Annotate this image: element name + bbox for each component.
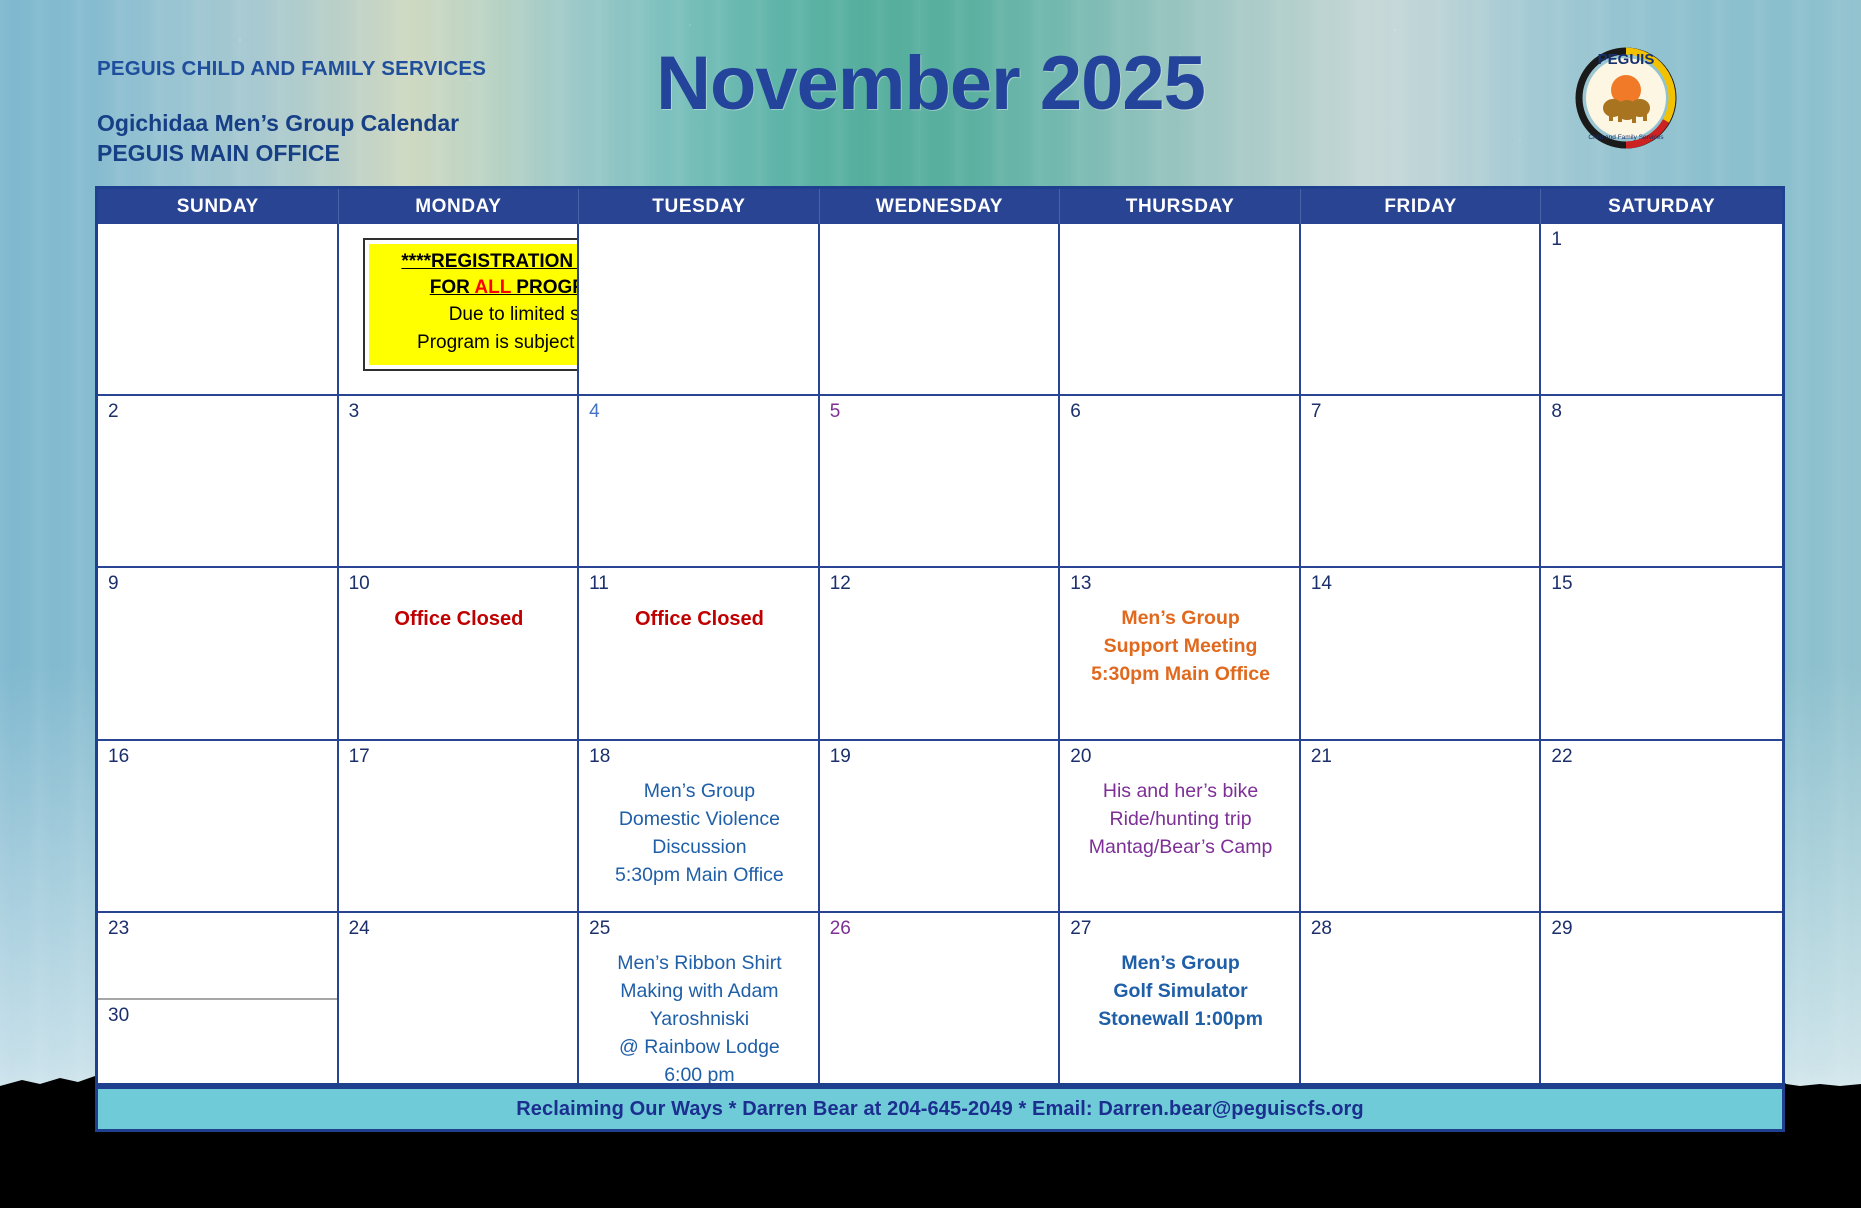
registration-notice-inner: ****REGISTRATION REQUIREDFOR ALL PROGRAM… [369, 244, 580, 365]
office-closed-label: Office Closed [589, 608, 810, 631]
day-number: 28 [1311, 919, 1532, 939]
calendar-day-cell-empty[interactable] [1301, 224, 1542, 394]
registration-required-prefix: ****REGISTRATION [401, 251, 578, 272]
logo-wordmark: PEGUIS [1598, 51, 1655, 68]
calendar-day-cell-10[interactable]: 10Office Closed [339, 568, 580, 738]
calendar-day-cell-3[interactable]: 3 [339, 396, 580, 566]
calendar-event-line: 6:00 pm [589, 1061, 810, 1083]
office-closed-label: Office Closed [349, 608, 570, 631]
calendar-grid: SUNDAY MONDAY TUESDAY WEDNESDAY THURSDAY… [95, 186, 1785, 1086]
calendar-day-cell-22[interactable]: 22 [1541, 741, 1782, 911]
calendar-day-cell-12[interactable]: 12 [820, 568, 1061, 738]
contact-footer-banner: Reclaiming Our Ways * Darren Bear at 204… [95, 1086, 1785, 1132]
registration-notice-line-2: FOR ALL PROGRAMS*** [375, 275, 580, 301]
calendar-day-cell-17[interactable]: 17 [339, 741, 580, 911]
calendar-day-cell-2[interactable]: 2 [98, 396, 339, 566]
day-number: 16 [108, 747, 329, 767]
calendar-event[interactable]: Men’s GroupGolf SimulatorStonewall 1:00p… [1070, 949, 1291, 1033]
day-number: 15 [1551, 574, 1774, 594]
day-number: 27 [1070, 919, 1291, 939]
calendar-day-cell-empty[interactable] [1060, 224, 1301, 394]
day-header-tuesday: TUESDAY [579, 189, 820, 224]
calendar-event-line: Stonewall 1:00pm [1070, 1005, 1291, 1033]
calendar-event-line: Mantag/Bear’s Camp [1070, 833, 1291, 861]
calendar-event[interactable]: Men’s GroupSupport Meeting5:30pm Main Of… [1070, 604, 1291, 688]
calendar-week-row: 161718Men’s GroupDomestic ViolenceDiscus… [98, 739, 1782, 911]
calendar-event-line: Golf Simulator [1070, 977, 1291, 1005]
subtitle-line-2: PEGUIS MAIN OFFICE [97, 138, 459, 168]
day-header-monday: MONDAY [339, 189, 580, 224]
day-number: 17 [349, 747, 570, 767]
day-number: 1 [1551, 230, 1774, 250]
day-number: 9 [108, 574, 329, 594]
calendar-event[interactable]: Men’s GroupDomestic ViolenceDiscussion5:… [589, 777, 810, 889]
calendar-day-cell-18[interactable]: 18Men’s GroupDomestic ViolenceDiscussion… [579, 741, 820, 911]
calendar-event-line: Discussion [589, 833, 810, 861]
calendar-day-cell-16[interactable]: 16 [98, 741, 339, 911]
calendar-week-row: 2345678 [98, 394, 1782, 566]
registration-notice-sub-1: Due to limited seating [375, 301, 580, 329]
calendar-day-cell-11[interactable]: 11Office Closed [579, 568, 820, 738]
calendar-day-cell-14[interactable]: 14 [1301, 568, 1542, 738]
day-number: 11 [589, 574, 810, 594]
day-number: 29 [1551, 919, 1774, 939]
calendar-event[interactable]: Men’s Ribbon ShirtMaking with AdamYarosh… [589, 949, 810, 1083]
day-number: 8 [1551, 402, 1774, 422]
calendar-event-line: Making with Adam [589, 977, 810, 1005]
day-number: 18 [589, 747, 810, 767]
calendar-day-cell-13[interactable]: 13Men’s GroupSupport Meeting5:30pm Main … [1060, 568, 1301, 738]
page-header: PEGUIS CHILD AND FAMILY SERVICES Ogichid… [0, 0, 1861, 185]
day-number: 10 [349, 574, 570, 594]
calendar-event-line: Men’s Group [1070, 949, 1291, 977]
day-number: 2 [108, 402, 329, 422]
day-number: 14 [1311, 574, 1532, 594]
registration-for-word: FOR [430, 277, 475, 298]
day-header-saturday: SATURDAY [1541, 189, 1782, 224]
day-number: 6 [1070, 402, 1291, 422]
calendar-day-cell-28[interactable]: 28 [1301, 913, 1542, 1083]
day-number: 20 [1070, 747, 1291, 767]
registration-notice-line-1: ****REGISTRATION REQUIRED [375, 249, 580, 275]
day-number: 22 [1551, 747, 1774, 767]
registration-programs-word: PROGRAMS*** [511, 277, 579, 298]
day-number: 23 [108, 919, 329, 939]
registration-all-word: ALL [474, 277, 511, 298]
day-number: 21 [1311, 747, 1532, 767]
calendar-weeks: ****REGISTRATION REQUIREDFOR ALL PROGRAM… [98, 224, 1782, 1083]
day-number: 19 [830, 747, 1051, 767]
calendar-day-cell-23[interactable]: 23 [98, 913, 337, 998]
calendar-day-cell-empty[interactable] [98, 224, 339, 394]
calendar-event-line: Domestic Violence [589, 805, 810, 833]
day-number: 13 [1070, 574, 1291, 594]
day-header-wednesday: WEDNESDAY [820, 189, 1061, 224]
day-header-thursday: THURSDAY [1060, 189, 1301, 224]
day-number: 26 [830, 919, 1051, 939]
registration-notice-box: ****REGISTRATION REQUIREDFOR ALL PROGRAM… [363, 238, 580, 371]
calendar-event-line: Men’s Group [1070, 604, 1291, 632]
calendar-day-cell-5[interactable]: 5 [820, 396, 1061, 566]
calendar-day-cell-24[interactable]: 24 [339, 913, 580, 1083]
calendar-event-line: Support Meeting [1070, 632, 1291, 660]
calendar-event-line: Men’s Ribbon Shirt [589, 949, 810, 977]
calendar-event-line: Men’s Group [589, 777, 810, 805]
calendar-event-line: His and her’s bike [1070, 777, 1291, 805]
day-number: 5 [830, 402, 1051, 422]
calendar-day-cell-4[interactable]: 4 [579, 396, 820, 566]
registration-notice-sub-2: Program is subject to change [375, 329, 580, 357]
calendar-event-line: 5:30pm Main Office [589, 861, 810, 889]
calendar-week-row: ****REGISTRATION REQUIREDFOR ALL PROGRAM… [98, 224, 1782, 394]
calendar-day-cell-26[interactable]: 26 [820, 913, 1061, 1083]
calendar-event-line: Yaroshniski [589, 1005, 810, 1033]
day-header-sunday: SUNDAY [98, 189, 339, 224]
calendar-day-cell-9[interactable]: 9 [98, 568, 339, 738]
calendar-day-cell-15[interactable]: 15 [1541, 568, 1782, 738]
calendar-day-cell-27[interactable]: 27Men’s GroupGolf SimulatorStonewall 1:0… [1060, 913, 1301, 1083]
calendar-day-cell-empty[interactable]: ****REGISTRATION REQUIREDFOR ALL PROGRAM… [339, 224, 580, 394]
day-of-week-header-row: SUNDAY MONDAY TUESDAY WEDNESDAY THURSDAY… [98, 189, 1782, 224]
calendar-event-line: 5:30pm Main Office [1070, 660, 1291, 688]
calendar-event[interactable]: His and her’s bikeRide/hunting tripManta… [1070, 777, 1291, 861]
calendar-week-row: 23302425Men’s Ribbon ShirtMaking with Ad… [98, 911, 1782, 1083]
calendar-day-cell-19[interactable]: 19 [820, 741, 1061, 911]
day-number: 7 [1311, 402, 1532, 422]
calendar-day-cell-7[interactable]: 7 [1301, 396, 1542, 566]
day-number: 3 [349, 402, 570, 422]
calendar-day-cell-8[interactable]: 8 [1541, 396, 1782, 566]
calendar-day-cell-30[interactable]: 30 [98, 998, 337, 1083]
contact-footer-text: Reclaiming Our Ways * Darren Bear at 204… [516, 1098, 1364, 1121]
day-number: 25 [589, 919, 810, 939]
calendar-day-cell-empty[interactable] [820, 224, 1061, 394]
day-number: 4 [589, 402, 810, 422]
calendar-day-cell-23[interactable]: 2330 [98, 913, 339, 1083]
calendar-event-line: Ride/hunting trip [1070, 805, 1291, 833]
calendar-day-cell-29[interactable]: 29 [1541, 913, 1782, 1083]
calendar-day-cell-empty[interactable] [579, 224, 820, 394]
calendar-day-cell-1[interactable]: 1 [1541, 224, 1782, 394]
day-header-friday: FRIDAY [1301, 189, 1542, 224]
calendar-day-cell-21[interactable]: 21 [1301, 741, 1542, 911]
calendar-event-line: @ Rainbow Lodge [589, 1033, 810, 1061]
calendar-day-cell-20[interactable]: 20His and her’s bikeRide/hunting tripMan… [1060, 741, 1301, 911]
calendar-day-cell-6[interactable]: 6 [1060, 396, 1301, 566]
logo-tagline: Child and Family Services [1588, 134, 1664, 141]
peguis-logo: PEGUIS Child and Family Services [1566, 38, 1686, 158]
day-number: 24 [349, 919, 570, 939]
calendar-day-cell-25[interactable]: 25Men’s Ribbon ShirtMaking with AdamYaro… [579, 913, 820, 1083]
calendar-week-row: 910Office Closed11Office Closed1213Men’s… [98, 566, 1782, 738]
day-number: 12 [830, 574, 1051, 594]
day-number: 30 [108, 1006, 329, 1026]
